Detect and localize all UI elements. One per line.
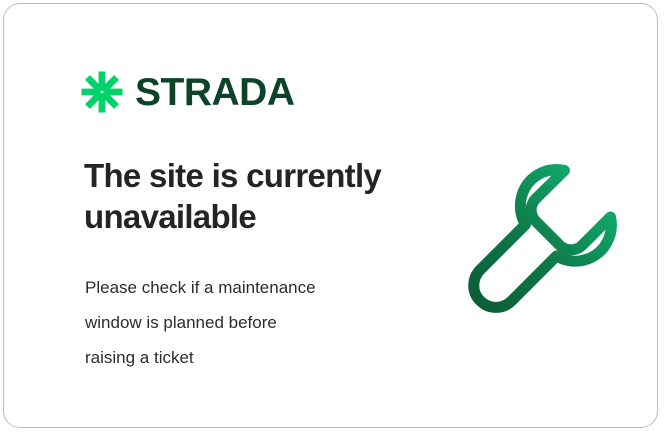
description-line: Please check if a maintenance bbox=[85, 271, 415, 306]
status-description: Please check if a maintenance window is … bbox=[85, 271, 415, 376]
page-title: The site is currently unavailable bbox=[84, 156, 424, 238]
status-page-card: STRADA The site is currently unavailable… bbox=[3, 3, 658, 428]
wrench-icon bbox=[474, 170, 612, 308]
wrench-illustration bbox=[456, 156, 618, 318]
brand-lockup: STRADA bbox=[80, 70, 295, 114]
strada-asterisk-icon bbox=[80, 70, 124, 114]
description-line: raising a ticket bbox=[85, 341, 415, 376]
description-line: window is planned before bbox=[85, 306, 415, 341]
brand-wordmark: STRADA bbox=[135, 73, 295, 112]
